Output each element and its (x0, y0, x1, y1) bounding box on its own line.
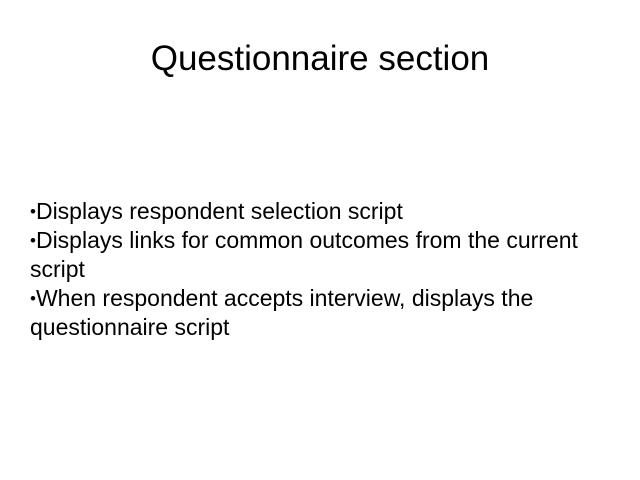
page-title: Questionnaire section (0, 38, 640, 80)
list-item: •Displays respondent selection script (30, 197, 608, 226)
list-item-label: Displays respondent selection script (36, 198, 403, 224)
list-item-label: Displays links for common outcomes from … (30, 227, 578, 282)
list-item: •When respondent accepts interview, disp… (30, 284, 608, 342)
list-item: •Displays links for common outcomes from… (30, 226, 608, 284)
list-item-label: When respondent accepts interview, displ… (30, 285, 533, 340)
presentation-slide: Questionnaire section •Displays responde… (0, 0, 640, 480)
bullet-list: •Displays respondent selection script •D… (30, 197, 608, 342)
